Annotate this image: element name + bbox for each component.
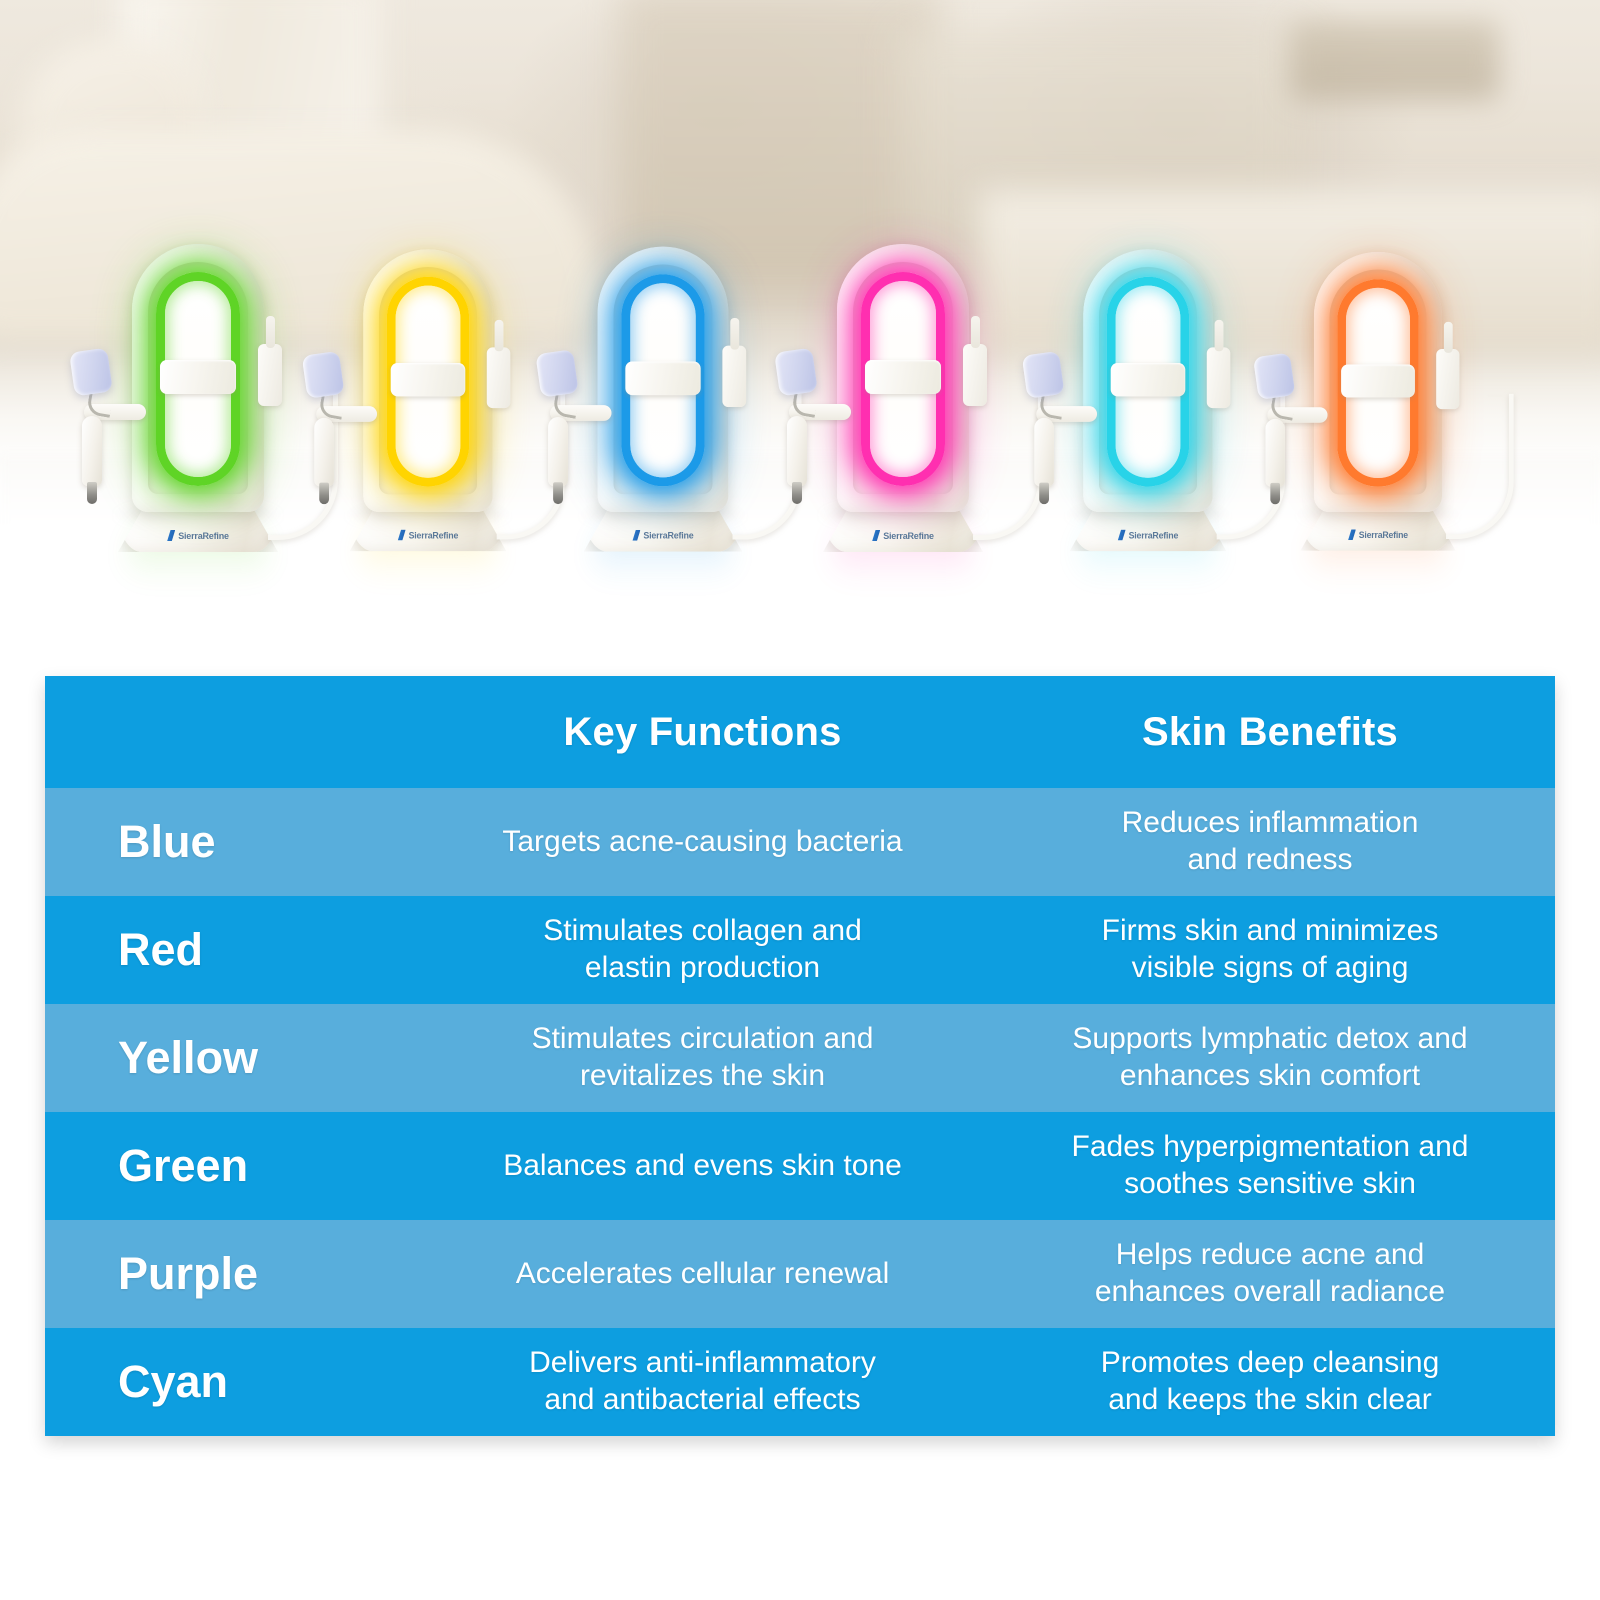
color-name-label: Cyan xyxy=(118,1358,420,1405)
handpiece-body xyxy=(787,416,807,486)
cell-key-function: Stimulates circulation andrevitalizes th… xyxy=(420,1021,985,1094)
color-name-label: Red xyxy=(118,926,420,973)
device-magenta: SierraRefine xyxy=(823,244,983,512)
handpiece-body xyxy=(1034,418,1054,487)
handpiece-tip xyxy=(1270,483,1280,504)
handpiece-cap xyxy=(1253,353,1295,400)
cell-key-function: Targets acne-causing bacteria xyxy=(420,824,985,861)
led-color-comparison-table: Key Functions Skin Benefits BlueTargets … xyxy=(45,676,1555,1436)
handpiece-body xyxy=(1265,419,1284,487)
brand-name-text: SierraRefine xyxy=(1129,530,1179,540)
table-row: YellowStimulates circulation andrevitali… xyxy=(45,1004,1555,1112)
handpiece-cap xyxy=(302,351,345,399)
cell-color-name: Yellow xyxy=(45,1034,420,1081)
brand-logo: SierraRefine xyxy=(1300,529,1455,540)
header-cell-key-functions: Key Functions xyxy=(420,710,985,755)
sierrarefine-mark-icon xyxy=(167,530,175,541)
handpiece-tip xyxy=(553,482,563,504)
handpiece-cap xyxy=(1022,351,1065,399)
cell-skin-benefit: Supports lymphatic detox andenhances ski… xyxy=(985,1021,1555,1094)
table-row: BlueTargets acne-causing bacteriaReduces… xyxy=(45,788,1555,896)
handpiece-cap xyxy=(535,349,578,397)
sierrarefine-mark-icon xyxy=(1118,530,1126,541)
device-collar xyxy=(1341,365,1415,398)
brand-logo: SierraRefine xyxy=(1070,530,1227,541)
cell-skin-benefit: Fades hyperpigmentation andsoothes sensi… xyxy=(985,1129,1555,1202)
handpiece-body xyxy=(82,416,102,486)
handpiece-body xyxy=(314,418,334,487)
table-row: RedStimulates collagen andelastin produc… xyxy=(45,896,1555,1004)
cell-key-function: Accelerates cellular renewal xyxy=(420,1256,985,1293)
cell-key-function: Stimulates collagen andelastin productio… xyxy=(420,913,985,986)
infographic-page: SierraRefineSierraRefineSierraRefineSier… xyxy=(0,0,1600,1600)
sierrarefine-mark-icon xyxy=(398,530,406,541)
table-body: BlueTargets acne-causing bacteriaReduces… xyxy=(45,788,1555,1436)
cell-color-name: Blue xyxy=(45,818,420,865)
device-green: SierraRefine xyxy=(118,244,278,512)
sierrarefine-mark-icon xyxy=(872,530,880,541)
product-photo: SierraRefineSierraRefineSierraRefineSier… xyxy=(0,0,1600,660)
cell-skin-benefit: Firms skin and minimizesvisible signs of… xyxy=(985,913,1555,986)
device-cyan: SierraRefine xyxy=(1070,249,1227,512)
handpiece-cap xyxy=(69,348,113,397)
brand-logo: SierraRefine xyxy=(823,530,983,541)
device-collar xyxy=(865,360,941,394)
device-yellow: SierraRefine xyxy=(350,249,507,512)
cell-skin-benefit: Helps reduce acne andenhances overall ra… xyxy=(985,1237,1555,1310)
cell-color-name: Cyan xyxy=(45,1358,420,1405)
handpiece-body xyxy=(548,417,568,486)
handpiece-tip xyxy=(792,482,802,504)
brand-logo: SierraRefine xyxy=(584,530,742,541)
handpiece-cap xyxy=(774,348,818,397)
cell-color-name: Red xyxy=(45,926,420,973)
table-header-row: Key Functions Skin Benefits xyxy=(45,676,1555,788)
color-name-label: Purple xyxy=(118,1250,420,1297)
background-treatment-bed xyxy=(0,130,600,340)
sierrarefine-mark-icon xyxy=(1348,529,1356,540)
brand-name-text: SierraRefine xyxy=(409,530,459,540)
background-shelf xyxy=(1290,20,1500,100)
device-orange: SierraRefine xyxy=(1300,252,1455,512)
device-collar xyxy=(160,360,236,394)
device-blue: SierraRefine xyxy=(584,247,742,512)
cell-key-function: Delivers anti-inflammatoryand antibacter… xyxy=(420,1345,985,1418)
brand-logo: SierraRefine xyxy=(350,530,507,541)
color-name-label: Yellow xyxy=(118,1034,420,1081)
brand-name-text: SierraRefine xyxy=(883,531,934,541)
table-row: PurpleAccelerates cellular renewalHelps … xyxy=(45,1220,1555,1328)
handpiece-tip xyxy=(319,483,329,505)
color-name-label: Green xyxy=(118,1142,420,1189)
brand-name-text: SierraRefine xyxy=(1359,530,1408,540)
brand-name-text: SierraRefine xyxy=(178,531,229,541)
device-collar xyxy=(625,362,700,396)
device-collar xyxy=(1111,363,1185,396)
cell-skin-benefit: Promotes deep cleansingand keeps the ski… xyxy=(985,1345,1555,1418)
cell-color-name: Purple xyxy=(45,1250,420,1297)
cell-color-name: Green xyxy=(45,1142,420,1189)
brand-name-text: SierraRefine xyxy=(643,530,693,540)
table-row: GreenBalances and evens skin toneFades h… xyxy=(45,1112,1555,1220)
handpiece-tip xyxy=(1039,483,1049,505)
table-row: CyanDelivers anti-inflammatoryand antiba… xyxy=(45,1328,1555,1436)
brand-logo: SierraRefine xyxy=(118,530,278,541)
cell-key-function: Balances and evens skin tone xyxy=(420,1148,985,1185)
header-cell-skin-benefits: Skin Benefits xyxy=(985,710,1555,755)
sierrarefine-mark-icon xyxy=(632,530,640,541)
color-name-label: Blue xyxy=(118,818,420,865)
device-collar xyxy=(391,363,465,396)
handpiece-tip xyxy=(87,482,97,504)
cell-skin-benefit: Reduces inflammationand redness xyxy=(985,805,1555,878)
